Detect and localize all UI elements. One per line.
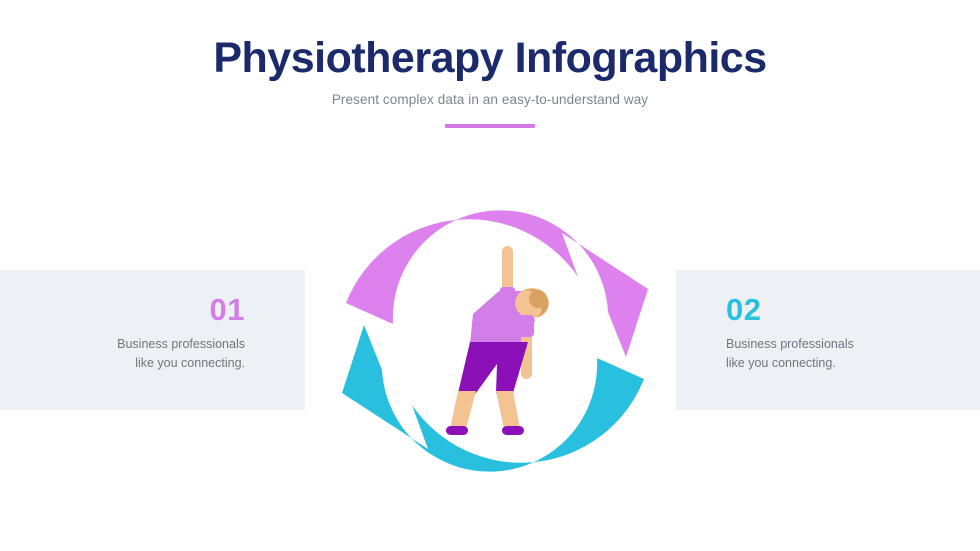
step-description-01: Business professionals like you connecti…: [0, 335, 245, 374]
step-description-01-line1: Business professionals: [117, 337, 245, 351]
page-subtitle: Present complex data in an easy-to-under…: [0, 92, 980, 108]
person-right-shoe: [502, 426, 524, 435]
person-shorts: [458, 342, 528, 393]
step-description-02-line1: Business professionals: [726, 337, 854, 351]
step-number-01: 01: [0, 294, 245, 325]
cycle-graphic: [330, 181, 660, 501]
step-description-02: Business professionals like you connecti…: [726, 335, 980, 374]
cycle-arrows-svg: [330, 181, 660, 501]
slide-header: Physiotherapy Infographics Present compl…: [0, 34, 980, 128]
person-hair-bun: [529, 290, 547, 308]
step-number-02: 02: [726, 294, 980, 325]
page-title: Physiotherapy Infographics: [0, 34, 980, 82]
person-right-leg: [496, 391, 520, 429]
stretching-person-illustration: [446, 246, 549, 435]
person-left-leg: [450, 391, 476, 429]
person-left-shoe: [446, 426, 468, 435]
step-panel-01[interactable]: 01 Business professionals like you conne…: [0, 270, 305, 410]
slide-canvas: Physiotherapy Infographics Present compl…: [0, 0, 980, 551]
title-accent-bar: [445, 124, 535, 128]
person-sleeve-lower: [519, 315, 534, 337]
step-panel-02-content: 02 Business professionals like you conne…: [676, 270, 980, 374]
step-panel-02[interactable]: 02 Business professionals like you conne…: [676, 270, 980, 410]
step-panel-01-content: 01 Business professionals like you conne…: [0, 270, 305, 374]
step-description-01-line2: like you connecting.: [135, 356, 245, 370]
step-description-02-line2: like you connecting.: [726, 356, 836, 370]
person-sleeve-upper: [500, 287, 515, 303]
